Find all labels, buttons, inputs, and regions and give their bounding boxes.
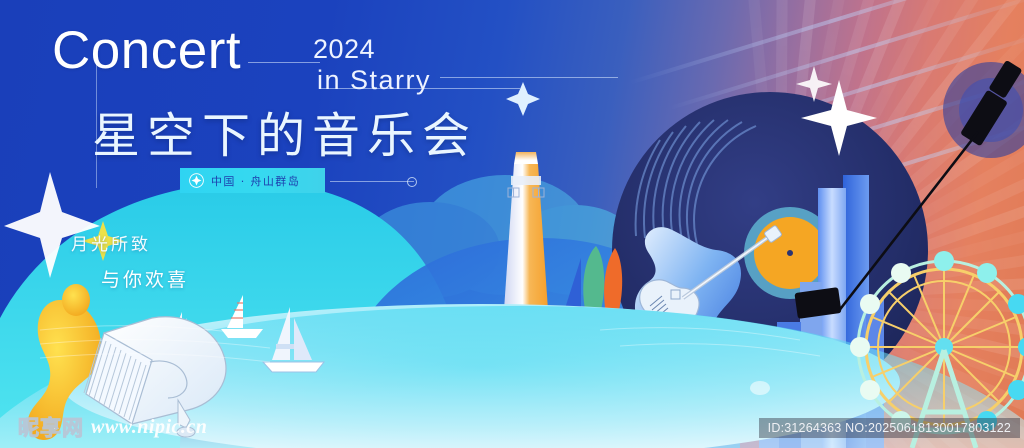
title-connector-line — [248, 62, 320, 63]
year-label: 2024 — [313, 34, 431, 65]
watermark: 昵享网 www.nipic.cn — [18, 412, 207, 442]
subtitle-label: in Starry — [313, 65, 431, 96]
slogan-line-2: 与你欢喜 — [101, 265, 189, 292]
location-badge[interactable]: 中国 · 舟山群岛 — [180, 168, 325, 193]
connector-dot — [407, 177, 417, 187]
concert-poster: Concert 2024 in Starry 星空下的音乐会 中国 · 舟山群岛… — [0, 0, 1024, 448]
chinese-title: 星空下的音乐会 — [92, 96, 477, 166]
badge-connector-line — [330, 181, 414, 182]
year-subtitle: 2024 in Starry — [313, 34, 431, 96]
watermark-url: www.nipic.cn — [91, 416, 207, 439]
sparkle-star-icon — [4, 172, 100, 278]
image-id-strip: ID:31264363 NO:20250618130017803122 — [759, 418, 1020, 438]
page-title: Concert — [52, 24, 241, 77]
diamond-sparkle-icon — [189, 173, 204, 188]
watermark-site-name: 昵享网 — [18, 412, 84, 442]
sparkle-star-icon — [796, 66, 832, 102]
location-badge-label: 中国 · 舟山群岛 — [211, 173, 300, 189]
slogan-line-1: 月光所致 — [71, 230, 151, 255]
subtitle-connector-line — [440, 77, 618, 78]
